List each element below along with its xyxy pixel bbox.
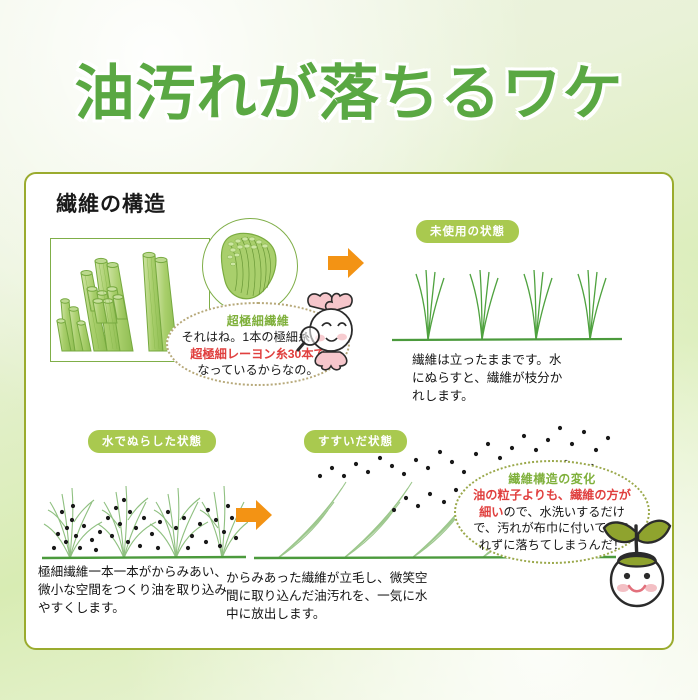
- sprout-mascot-icon: [598, 504, 676, 619]
- flower-mascot-with-magnifier-icon: [294, 286, 368, 377]
- state-unused-pill-wrap: 未使用の状態: [416, 220, 519, 243]
- main-panel: 繊維の構造: [24, 172, 674, 650]
- arrow-right-icon-top: [326, 246, 366, 280]
- bubble2-line-1-highlight: 油の粒子よりも、繊維の方が: [456, 487, 648, 504]
- magnified-fiber-cross-section: [202, 218, 298, 314]
- unused-fiber-illustration: [386, 258, 626, 348]
- state-caption-wet: 極細繊維一本一本がからみあい、微小な空間をつくり油を取り込みやすくします。: [38, 564, 234, 618]
- bubble2-line-2-highlight: 細い: [479, 505, 503, 519]
- page-title: 油汚れが落ちるワケ: [75, 64, 624, 124]
- microfiber-filaments-diagram: [203, 219, 297, 313]
- state-caption-unused: 繊維は立ったままです。水にぬらすと、繊維が枝分かれします。: [412, 352, 572, 406]
- arrow-right-glyph: [326, 246, 366, 280]
- state-caption-rinsed: からみあった繊維が立毛し、微笑空間に取り込んだ油汚れを、一気に水中に放出します。: [226, 570, 438, 624]
- flower-mascot-glyph: [294, 286, 368, 372]
- wet-fiber-illustration: [40, 462, 248, 566]
- state-pill-wet: 水でぬらした状態: [88, 430, 216, 453]
- page-title-container: 油汚れが落ちるワケ: [0, 64, 698, 124]
- state-pill-unused: 未使用の状態: [416, 220, 519, 243]
- sprout-mascot-glyph: [598, 504, 676, 614]
- bubble-title-fiber-structure-change: 繊維構造の変化: [456, 470, 648, 487]
- panel-heading: 繊維の構造: [56, 188, 166, 218]
- state-wet-pill-wrap: 水でぬらした状態: [88, 430, 216, 453]
